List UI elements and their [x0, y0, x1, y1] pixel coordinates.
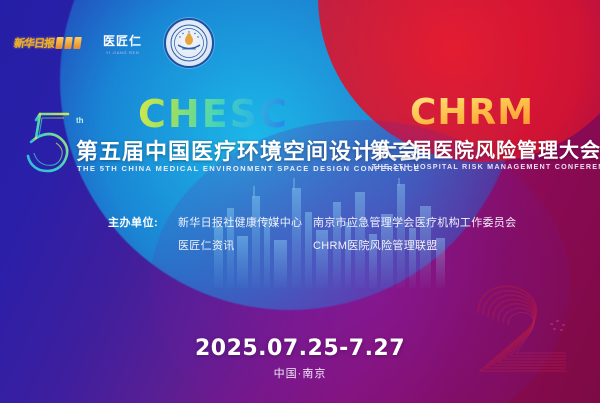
conference-poster: 新华日报 医匠仁 YI JIANG REN	[0, 0, 600, 403]
organizers-column-one: 新华日报社健康传媒中心 医匠仁资讯	[178, 212, 313, 258]
association-seal-logo	[164, 18, 214, 68]
chrm-title-chinese: 第二届医院风险管理大会	[370, 134, 600, 163]
organizer-item: 新华日报社健康传媒中心	[178, 212, 313, 235]
xinhua-daily-logo: 新华日报	[13, 35, 82, 51]
organizer-item: 南京市应急管理学会医疗机构工作委员会	[313, 212, 516, 235]
chrm-acronym: CHRM	[410, 92, 534, 133]
yijiangren-logo-text: 医匠仁	[103, 32, 142, 49]
xinhua-daily-logo-block	[64, 37, 73, 49]
chrm-title-english: THE 2TH HOSPITAL RISK MANAGEMENT CONFERE…	[372, 162, 600, 171]
organizers-label: 主办单位:	[108, 212, 178, 258]
organizer-item: CHRM医院风险管理联盟	[313, 235, 516, 258]
event-location: 中国·南京	[0, 365, 600, 381]
organizer-item: 医匠仁资讯	[178, 235, 313, 258]
xinhua-daily-logo-text: 新华日报	[13, 35, 55, 51]
chesc-title-english: THE 5TH CHINA MEDICAL ENVIRONMENT SPACE …	[77, 164, 420, 173]
organizers-column-two: 南京市应急管理学会医疗机构工作委员会 CHRM医院风险管理联盟	[313, 212, 516, 258]
yijiangren-logo: 医匠仁 YI JIANG REN	[103, 32, 142, 55]
ordinal-suffix-label: th	[76, 116, 84, 125]
organizers-section: 主办单位: 新华日报社健康传媒中心 医匠仁资讯 南京市应急管理学会医疗机构工作委…	[108, 212, 516, 258]
fifth-edition-number-mark	[20, 106, 82, 178]
event-date-section: 2025.07.25-7.27 中国·南京	[0, 336, 600, 381]
xinhua-daily-logo-block	[55, 37, 64, 49]
xinhua-daily-logo-block	[73, 37, 82, 49]
sponsor-logo-bar: 新华日报 医匠仁 YI JIANG REN	[14, 18, 214, 68]
association-seal-icon	[169, 23, 209, 63]
chesc-acronym: CHESC	[138, 92, 289, 136]
yijiangren-logo-subtext: YI JIANG REN	[106, 50, 139, 55]
event-date: 2025.07.25-7.27	[0, 336, 600, 361]
